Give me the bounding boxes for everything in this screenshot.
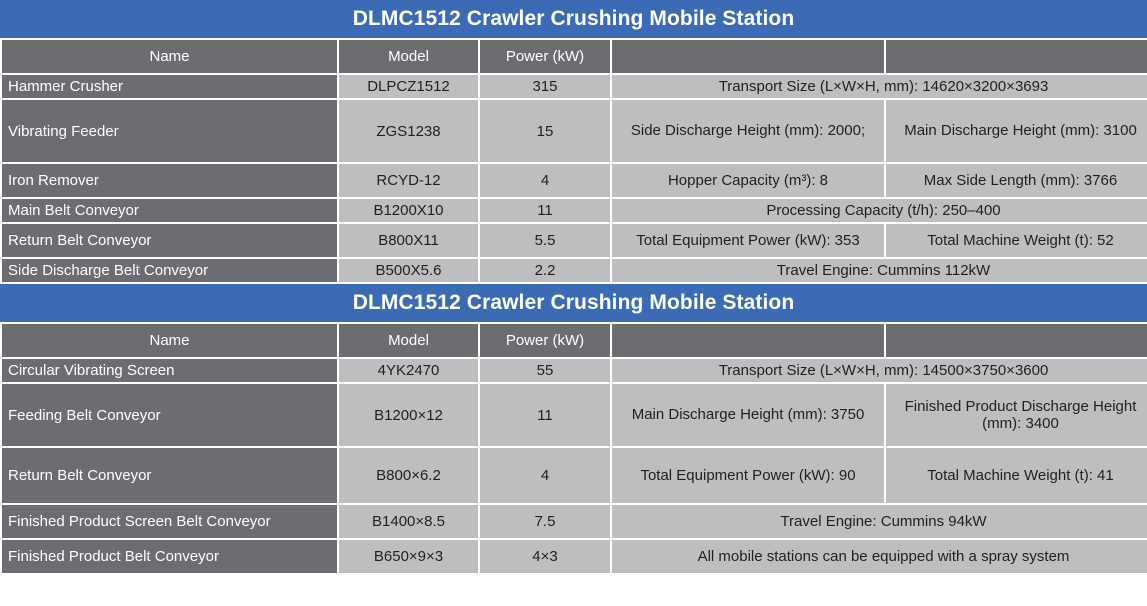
spec-block-1: DLMC1512 Crawler Crushing Mobile Station… (0, 0, 1147, 284)
cell-model: 4YK2470 (339, 359, 478, 382)
cell-model: ZGS1238 (339, 100, 478, 162)
cell-spec-right: Main Discharge Height (mm): 3100 (886, 100, 1147, 162)
cell-spec-left: Side Discharge Height (mm): 2000; (612, 100, 884, 162)
cell-model: B500X5.6 (339, 259, 478, 282)
cell-name: Return Belt Conveyor (2, 224, 337, 257)
table-row: Finished Product Screen Belt Conveyor B1… (2, 505, 1147, 538)
table-row: Circular Vibrating Screen 4YK2470 55 Tra… (2, 359, 1147, 382)
spec-table-1: Name Model Power (kW) Hammer Crusher DLP… (0, 38, 1147, 284)
column-header-spec-left (612, 40, 884, 73)
cell-model: DLPCZ1512 (339, 75, 478, 98)
cell-name: Return Belt Conveyor (2, 448, 337, 503)
cell-model: RCYD-12 (339, 164, 478, 197)
cell-power: 2.2 (480, 259, 610, 282)
cell-spec-right: Total Machine Weight (t): 41 (886, 448, 1147, 503)
column-header-spec-right (886, 40, 1147, 73)
cell-power: 5.5 (480, 224, 610, 257)
table-row: Side Discharge Belt Conveyor B500X5.6 2.… (2, 259, 1147, 282)
cell-spec-full: Processing Capacity (t/h): 250–400 (612, 199, 1147, 222)
table-2-header-row: Name Model Power (kW) (2, 324, 1147, 357)
cell-power: 4×3 (480, 540, 610, 573)
cell-power: 55 (480, 359, 610, 382)
cell-spec-right: Max Side Length (mm): 3766 (886, 164, 1147, 197)
cell-power: 4 (480, 164, 610, 197)
cell-name: Hammer Crusher (2, 75, 337, 98)
cell-name: Main Belt Conveyor (2, 199, 337, 222)
cell-power: 4 (480, 448, 610, 503)
cell-spec-full: Transport Size (L×W×H, mm): 14620×3200×3… (612, 75, 1147, 98)
cell-spec-right: Total Machine Weight (t): 52 (886, 224, 1147, 257)
cell-name: Feeding Belt Conveyor (2, 384, 337, 446)
column-header-spec-left (612, 324, 884, 357)
column-header-spec-right (886, 324, 1147, 357)
column-header-name: Name (2, 324, 337, 357)
column-header-model: Model (339, 324, 478, 357)
cell-model: B1200×12 (339, 384, 478, 446)
block-1-title: DLMC1512 Crawler Crushing Mobile Station (0, 0, 1147, 38)
spec-table-2: Name Model Power (kW) Circular Vibrating… (0, 322, 1147, 575)
cell-spec-left: Hopper Capacity (m³): 8 (612, 164, 884, 197)
cell-spec-right: Finished Product Discharge Height (mm): … (886, 384, 1147, 446)
column-header-power: Power (kW) (480, 40, 610, 73)
column-header-name: Name (2, 40, 337, 73)
cell-model: B1400×8.5 (339, 505, 478, 538)
cell-name: Iron Remover (2, 164, 337, 197)
table-row: Finished Product Belt Conveyor B650×9×3 … (2, 540, 1147, 573)
cell-model: B800X11 (339, 224, 478, 257)
cell-spec-full: Travel Engine: Cummins 112kW (612, 259, 1147, 282)
cell-name: Vibrating Feeder (2, 100, 337, 162)
table-row: Feeding Belt Conveyor B1200×12 11 Main D… (2, 384, 1147, 446)
cell-spec-left: Total Equipment Power (kW): 90 (612, 448, 884, 503)
cell-name: Side Discharge Belt Conveyor (2, 259, 337, 282)
cell-model: B650×9×3 (339, 540, 478, 573)
table-1-header-row: Name Model Power (kW) (2, 40, 1147, 73)
cell-name: Circular Vibrating Screen (2, 359, 337, 382)
cell-name: Finished Product Belt Conveyor (2, 540, 337, 573)
column-header-model: Model (339, 40, 478, 73)
cell-power: 15 (480, 100, 610, 162)
cell-spec-left: Total Equipment Power (kW): 353 (612, 224, 884, 257)
spec-sheet-page: DLMC1512 Crawler Crushing Mobile Station… (0, 0, 1147, 606)
cell-power: 11 (480, 199, 610, 222)
cell-spec-full: All mobile stations can be equipped with… (612, 540, 1147, 573)
table-row: Iron Remover RCYD-12 4 Hopper Capacity (… (2, 164, 1147, 197)
cell-spec-full: Travel Engine: Cummins 94kW (612, 505, 1147, 538)
table-row: Main Belt Conveyor B1200X10 11 Processin… (2, 199, 1147, 222)
cell-power: 315 (480, 75, 610, 98)
cell-power: 7.5 (480, 505, 610, 538)
table-row: Vibrating Feeder ZGS1238 15 Side Dischar… (2, 100, 1147, 162)
table-row: Return Belt Conveyor B800×6.2 4 Total Eq… (2, 448, 1147, 503)
cell-spec-full: Transport Size (L×W×H, mm): 14500×3750×3… (612, 359, 1147, 382)
block-2-title: DLMC1512 Crawler Crushing Mobile Station (0, 284, 1147, 322)
cell-spec-left: Main Discharge Height (mm): 3750 (612, 384, 884, 446)
cell-model: B800×6.2 (339, 448, 478, 503)
table-row: Hammer Crusher DLPCZ1512 315 Transport S… (2, 75, 1147, 98)
column-header-power: Power (kW) (480, 324, 610, 357)
spec-block-2: DLMC1512 Crawler Crushing Mobile Station… (0, 284, 1147, 575)
cell-power: 11 (480, 384, 610, 446)
cell-model: B1200X10 (339, 199, 478, 222)
table-row: Return Belt Conveyor B800X11 5.5 Total E… (2, 224, 1147, 257)
cell-name: Finished Product Screen Belt Conveyor (2, 505, 337, 538)
